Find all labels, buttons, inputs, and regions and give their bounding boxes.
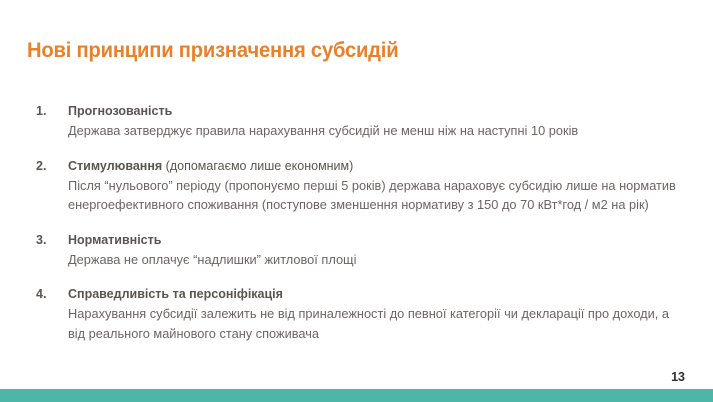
list-item: 2. Стимулювання (допомагаємо лише економ… — [36, 157, 681, 215]
bottom-accent-bar — [0, 389, 713, 402]
list-item-number: 2. — [36, 157, 58, 175]
list-item-number: 1. — [36, 102, 58, 120]
list-item-heading: Стимулювання (допомагаємо лише економним… — [68, 157, 681, 175]
list-item-heading-text: Нормативність — [68, 233, 161, 247]
slide: Нові принципи призначення субсидій 1. Пр… — [0, 0, 713, 402]
list-item-body: Після “нульового” періоду (пропонуємо пе… — [68, 176, 680, 215]
list-item-number: 4. — [36, 285, 58, 303]
list-item-heading: Нормативність — [68, 231, 681, 249]
list-item-heading: Справедливість та персоніфікація — [68, 285, 681, 303]
list-item-number: 3. — [36, 231, 58, 249]
page-title: Нові принципи призначення субсидій — [27, 38, 398, 64]
list-item: 1. Прогнозованість Держава затверджує пр… — [36, 102, 681, 141]
list-item-heading-text: Прогнозованість — [68, 104, 172, 118]
list-item-body: Держава затверджує правила нарахування с… — [68, 121, 680, 141]
page-number: 13 — [671, 370, 685, 384]
list-item-heading-note: (допомагаємо лише економним) — [162, 159, 353, 173]
list-item-heading: Прогнозованість — [68, 102, 681, 120]
list-item-heading-text: Стимулювання — [68, 159, 162, 173]
list-item-heading-text: Справедливість та персоніфікація — [68, 287, 283, 301]
list-item: 4. Справедливість та персоніфікація Нара… — [36, 285, 681, 343]
list-item-body: Держава не оплачує “надлишки” житлової п… — [68, 250, 680, 270]
list-item: 3. Нормативність Держава не оплачує “над… — [36, 231, 681, 270]
list-item-body: Нарахування субсидії залежить не від при… — [68, 304, 680, 343]
principles-list: 1. Прогнозованість Держава затверджує пр… — [36, 102, 681, 343]
